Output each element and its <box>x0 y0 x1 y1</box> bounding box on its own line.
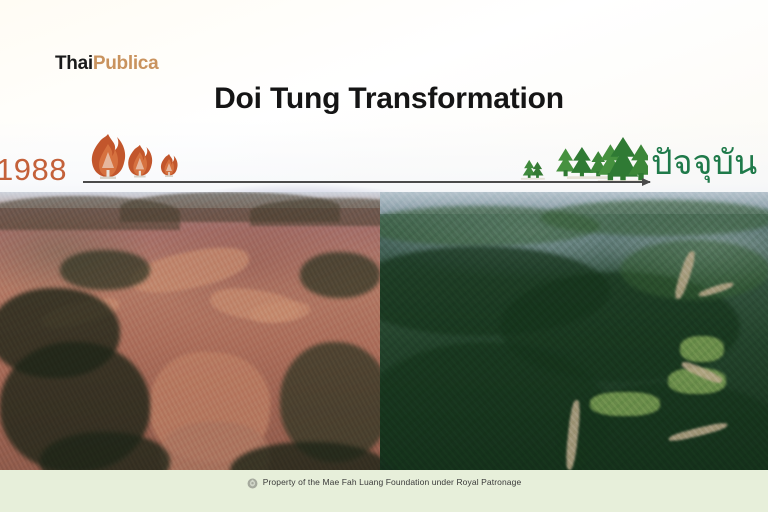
before-after-comparison <box>0 192 768 470</box>
deforested-photo-texture <box>0 192 380 470</box>
pine-trees-icon <box>518 137 648 182</box>
burning-trees-icon <box>86 130 191 182</box>
foundation-seal-icon <box>247 476 258 487</box>
slide-canvas: ThaiPublica Doi Tung Transformation 1988 <box>0 0 768 512</box>
timeline-axis <box>83 181 650 183</box>
timeline-end-label: ปัจจุบัน <box>651 146 757 180</box>
timeline-axis-line <box>83 181 650 183</box>
timeline-start-label: 1988 <box>0 152 67 188</box>
footer-credit-text: Property of the Mae Fah Luang Foundation… <box>263 477 522 487</box>
logo-text-publica: Publica <box>93 53 158 74</box>
deforested-hillside-photo <box>0 192 380 470</box>
page-title: Doi Tung Transformation <box>0 82 768 116</box>
right-arrow-icon <box>642 178 651 186</box>
reforested-hillside-photo <box>380 192 768 470</box>
logo-text-thai: Thai <box>55 53 93 74</box>
thaipublica-logo[interactable]: ThaiPublica <box>55 53 158 75</box>
footer-bar: Property of the Mae Fah Luang Foundation… <box>0 470 768 512</box>
reforested-photo-texture <box>380 192 768 470</box>
